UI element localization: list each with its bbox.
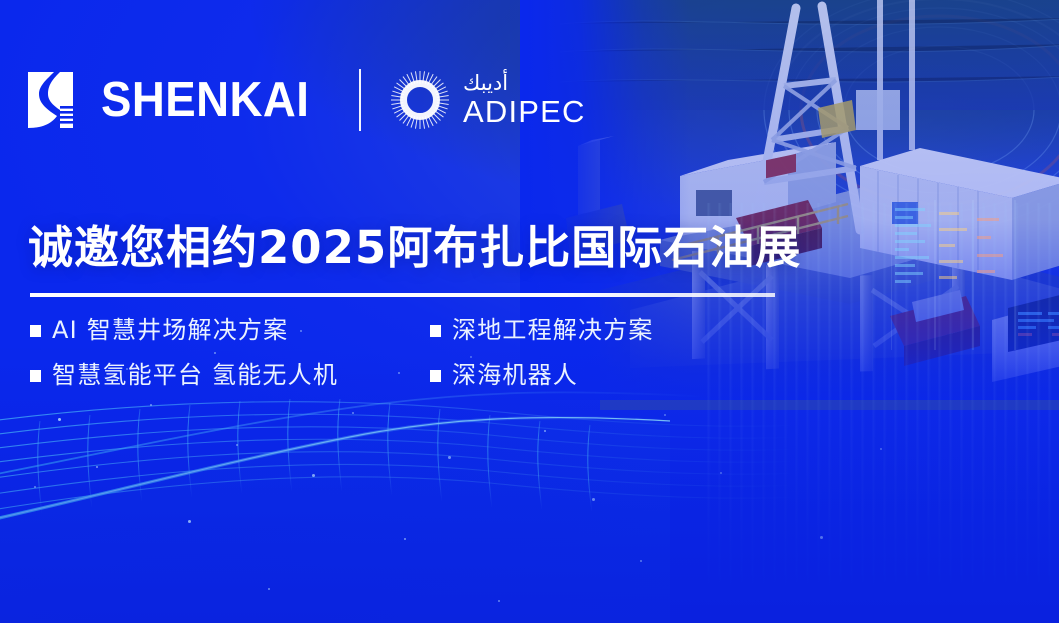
feature-row: 智慧氢能平台 氢能无人机 深海机器人 bbox=[30, 357, 790, 393]
list-item: 深地工程解决方案 bbox=[430, 312, 654, 348]
adipec-arabic-name: أديبك bbox=[463, 73, 508, 94]
feature-row: AI 智慧井场解决方案 深地工程解决方案 bbox=[30, 312, 790, 348]
list-item-label: 深海机器人 bbox=[452, 357, 578, 393]
banner-content: SHENKAI bbox=[0, 0, 1059, 623]
bullet-square-icon bbox=[430, 325, 441, 337]
shenkai-wordmark: SHENKAI bbox=[101, 76, 309, 125]
list-item-label: 深地工程解决方案 bbox=[452, 312, 654, 348]
logo-bar: SHENKAI bbox=[26, 62, 586, 138]
page-title: 诚邀您相约2025阿布扎比国际石油展 bbox=[28, 224, 801, 271]
adipec-wordmark-group: أديبك ADIPEC bbox=[463, 73, 586, 127]
bullet-square-icon bbox=[430, 370, 441, 382]
shenkai-sk-monogram-icon bbox=[26, 70, 84, 130]
promo-banner: SHENKAI bbox=[0, 0, 1059, 623]
list-item-label: 智慧氢能平台 氢能无人机 bbox=[52, 357, 338, 393]
list-item: AI 智慧井场解决方案 bbox=[30, 312, 430, 348]
adipec-english-name: ADIPEC bbox=[463, 96, 586, 127]
bullet-square-icon bbox=[30, 370, 41, 382]
list-item: 深海机器人 bbox=[430, 357, 578, 393]
list-item-label: AI 智慧井场解决方案 bbox=[52, 312, 288, 348]
adipec-logo: أديبك ADIPEC bbox=[389, 69, 586, 131]
vertical-divider-icon bbox=[359, 69, 361, 131]
list-item: 智慧氢能平台 氢能无人机 bbox=[30, 357, 430, 393]
adipec-radial-burst-icon bbox=[389, 69, 451, 131]
bullet-square-icon bbox=[30, 325, 41, 337]
horizontal-rule-icon bbox=[30, 293, 775, 297]
feature-list: AI 智慧井场解决方案 深地工程解决方案 智慧氢能平台 氢能无人机 深海机器人 bbox=[30, 312, 790, 402]
